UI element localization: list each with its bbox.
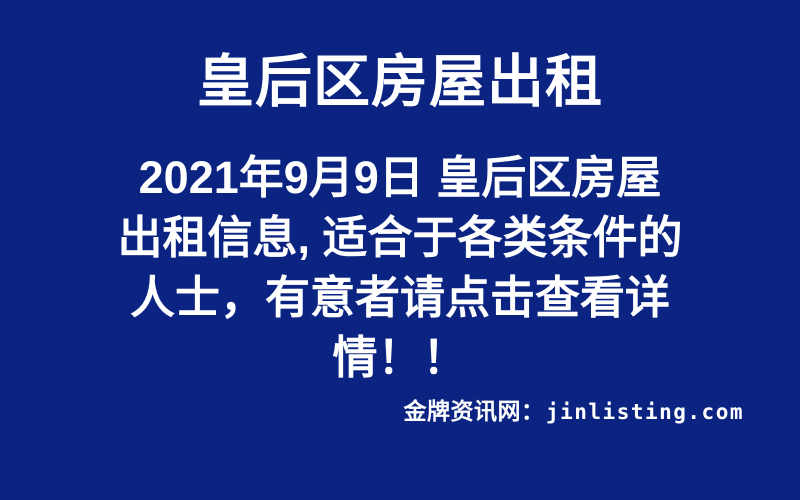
footer-separator: ： (521, 397, 546, 425)
footer-watermark: 金牌资讯网 ： jinlisting.com (403, 397, 744, 426)
page-title: 皇后区房屋出租 (0, 48, 800, 116)
body-line-1: 2021年9月9日 皇后区房屋 (100, 148, 700, 208)
footer-domain-url: jinlisting.com (546, 398, 744, 426)
poster-canvas: 皇后区房屋出租 2021年9月9日 皇后区房屋 出租信息, 适合于各类条件的 人… (0, 0, 800, 500)
body-line-3: 人士，有意者请点击查看详 (100, 268, 700, 328)
body-line-2: 出租信息, 适合于各类条件的 (100, 208, 700, 268)
body-line-4: 情！！ (100, 328, 700, 388)
footer-brand-name: 金牌资讯网 (403, 397, 521, 425)
poster-body-text: 2021年9月9日 皇后区房屋 出租信息, 适合于各类条件的 人士，有意者请点击… (100, 148, 700, 388)
